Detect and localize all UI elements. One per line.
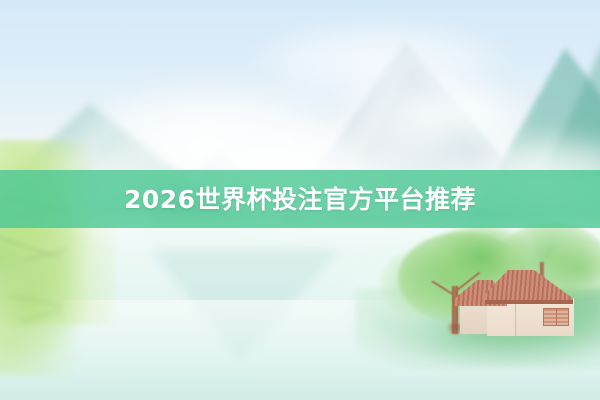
- mist-cloud-f: [250, 20, 510, 100]
- house-window: [543, 308, 569, 326]
- title-banner: 2026世界杯投注官方平台推荐: [0, 170, 600, 228]
- twig-6: [20, 309, 63, 322]
- cottage-house: [455, 270, 575, 348]
- landscape-banner-image: 2026世界杯投注官方平台推荐: [0, 0, 600, 400]
- house-roof-main: [485, 270, 573, 304]
- twig-5: [8, 295, 61, 305]
- house-roof-eave: [485, 300, 573, 304]
- banner-title-text: 2026世界杯投注官方平台推荐: [124, 187, 476, 212]
- foliage-left-lower: [0, 255, 100, 375]
